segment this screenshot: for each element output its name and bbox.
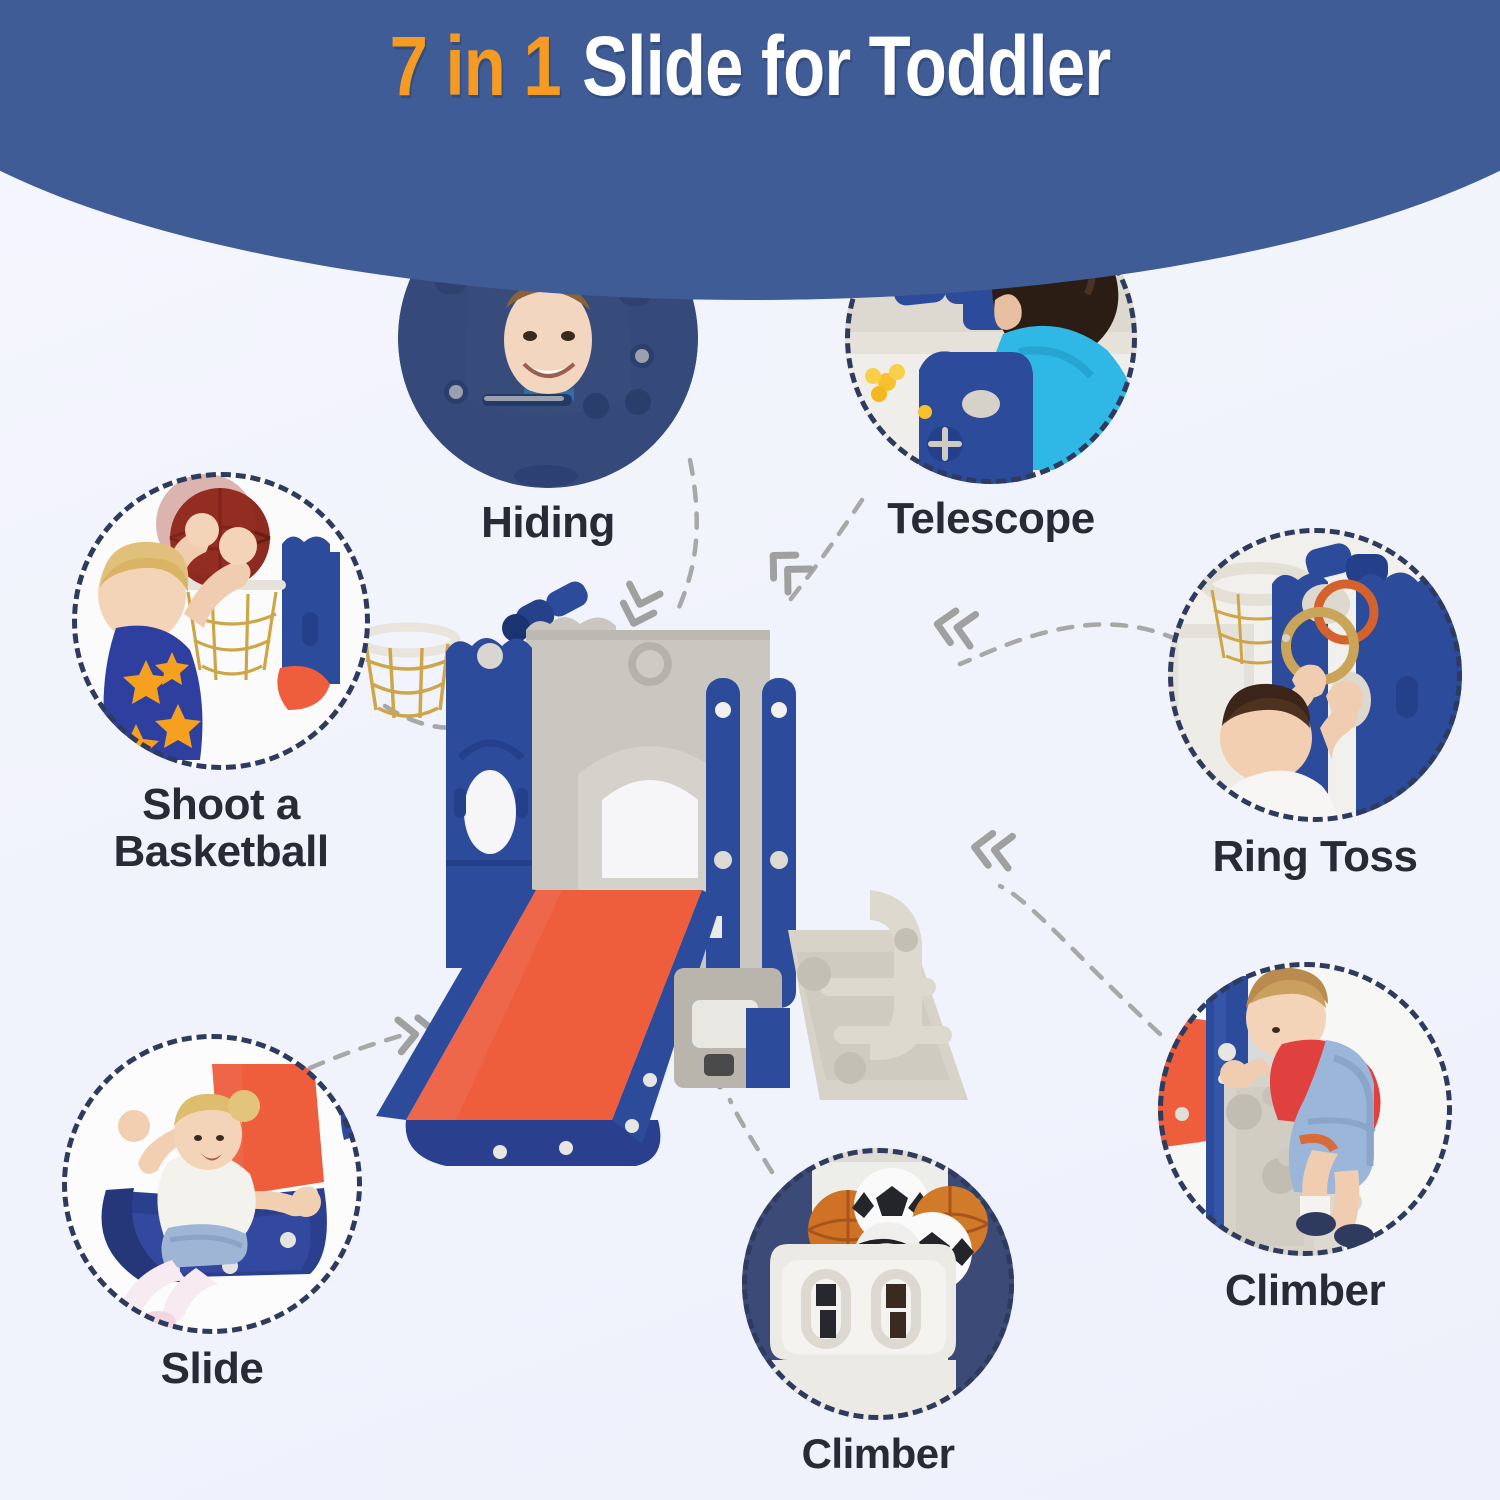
page-title: 7 in 1 Slide for Toddler <box>135 0 1365 132</box>
feature-climber-right-label: Climber <box>1158 1268 1452 1315</box>
blue-panel <box>919 351 1033 484</box>
feature-basketball-label-line2: Basketball <box>72 829 370 876</box>
child-skirt <box>161 1224 247 1268</box>
feature-basketball-label-line1: Shoot a <box>72 782 370 829</box>
climber-part <box>788 890 968 1100</box>
title-rest: Slide for Toddler <box>582 18 1110 115</box>
feature-ring-toss-label: Ring Toss <box>1168 834 1462 881</box>
blue-post-right <box>762 678 796 1008</box>
feature-climber-right[interactable]: Climber <box>1158 962 1452 1315</box>
feature-climber-bottom-photo <box>742 1148 1014 1420</box>
infographic-canvas: 7 in 1 Slide for Toddler <box>0 0 1500 1500</box>
feature-slide-label: Slide <box>62 1346 362 1393</box>
slide-part <box>376 886 722 1166</box>
feature-hiding-label: Hiding <box>398 500 698 547</box>
feature-climber-right-photo <box>1158 962 1452 1256</box>
product-illustration <box>350 560 1030 1190</box>
child-shoe <box>1296 1212 1336 1236</box>
feature-slide[interactable]: Slide <box>62 1034 362 1393</box>
feature-basketball-photo <box>72 472 370 770</box>
feature-climber-bottom[interactable]: Climber <box>742 1148 1014 1477</box>
feature-climber-bottom-label: Climber <box>742 1432 1014 1477</box>
feature-basketball[interactable]: Shoot a Basketball <box>72 472 370 875</box>
feature-telescope-label: Telescope <box>845 496 1137 543</box>
feature-ring-toss[interactable]: Ring Toss <box>1168 528 1462 881</box>
feature-basketball-label: Shoot a Basketball <box>72 782 370 875</box>
ponytail <box>228 1090 260 1122</box>
title-highlight: 7 in 1 <box>390 18 561 115</box>
feature-slide-photo <box>62 1034 362 1334</box>
feature-ring-toss-photo <box>1168 528 1462 822</box>
